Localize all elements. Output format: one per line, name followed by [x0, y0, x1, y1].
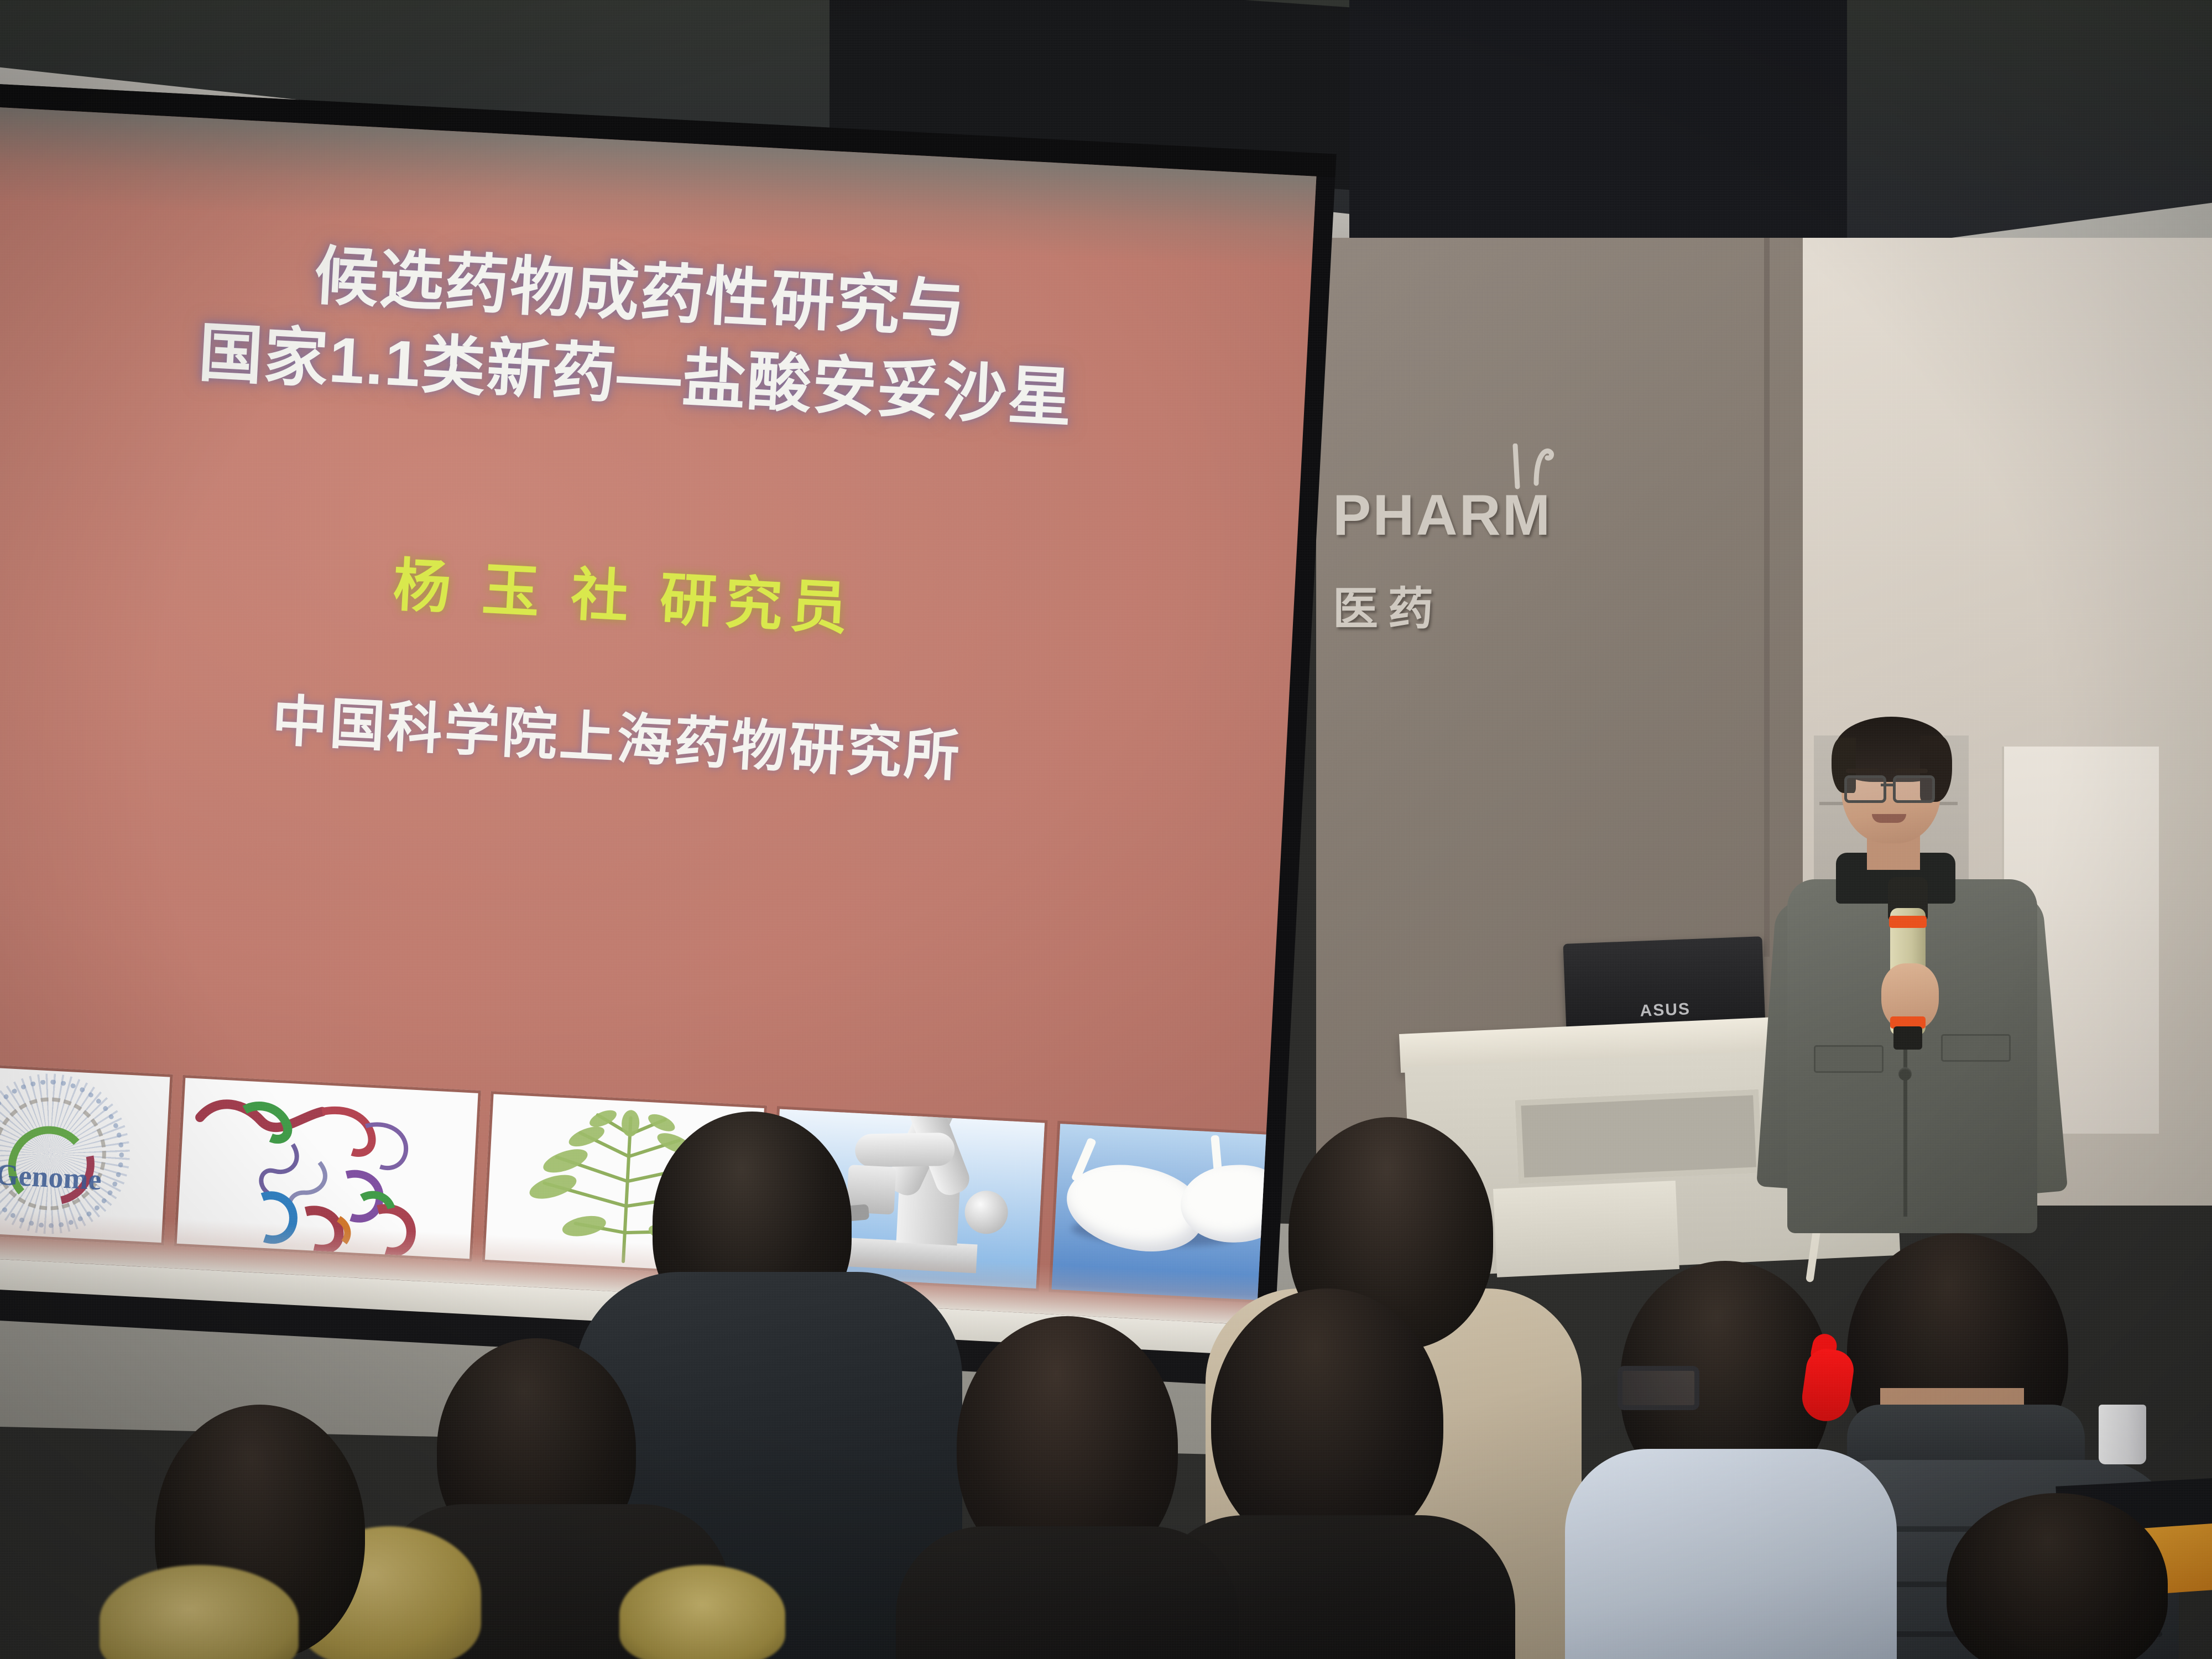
presenter-glasses-bridge [1881, 784, 1893, 786]
fur-hood-trim [619, 1565, 785, 1659]
lecture-hall-scene: PHARM 医药 候选药物成药性研究与 国家1.1类新药—盐酸安妥沙星 杨 玉 … [0, 0, 2212, 1659]
podium-front-panel [1493, 1181, 1679, 1277]
protein-ribbon-icon [177, 1078, 478, 1259]
presenter-mouth [1872, 814, 1906, 823]
audience-glasses [1618, 1366, 1699, 1410]
slide-organization: 中国科学院上海药物研究所 [0, 659, 1287, 808]
jacket-pocket [1941, 1034, 2011, 1062]
presenter [1759, 713, 2112, 1322]
list-item [896, 1526, 1239, 1659]
presenter-glasses-lens [1844, 775, 1886, 803]
microphone-tip [1893, 1026, 1922, 1050]
presenter-glasses-lens [1893, 775, 1935, 803]
slide-speaker-name: 杨 玉 社 研究员 [0, 515, 1295, 668]
genome-label: Genome [0, 1157, 102, 1197]
thumbnail-genome-diagram: Genome [0, 1062, 173, 1245]
microphone-ring [1889, 916, 1927, 928]
wall-sign-chinese: 医药 [1333, 572, 1764, 638]
paper-cup [2099, 1405, 2146, 1464]
presenter-eyebrow [1895, 769, 1928, 773]
podium-shelf [1515, 1089, 1762, 1183]
robot-joint-icon [964, 1190, 1009, 1235]
list-item [1211, 1288, 1443, 1554]
flask-logo-icon [1493, 444, 1559, 499]
presenter-eyebrow [1846, 769, 1879, 773]
wall-sign: PHARM 医药 [1333, 487, 1764, 686]
jacket-button [1898, 1067, 1912, 1081]
laptop-brand-label: ASUS [1640, 1000, 1691, 1020]
slide-surface: 候选药物成药性研究与 国家1.1类新药—盐酸安妥沙星 杨 玉 社 研究员 中国科… [0, 106, 1316, 1325]
thumbnail-protein-structure [174, 1075, 481, 1262]
robot-elbow-icon [855, 1133, 955, 1167]
jacket-pocket [1814, 1045, 1884, 1073]
list-item [1565, 1449, 1897, 1659]
